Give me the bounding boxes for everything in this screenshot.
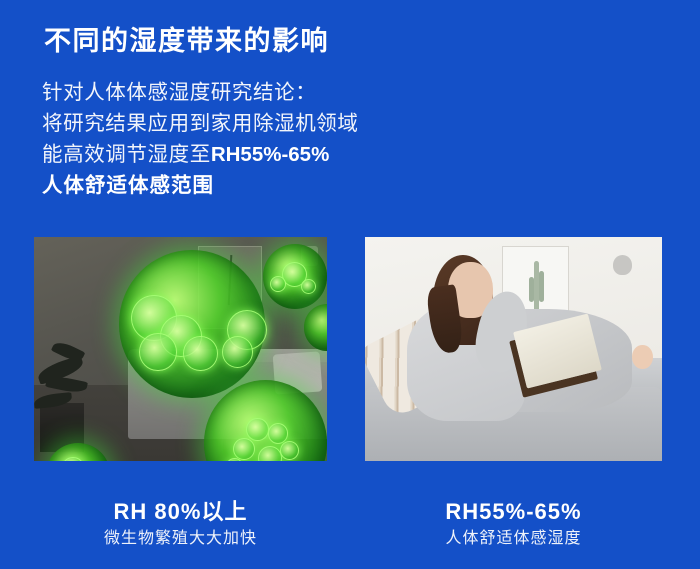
wall-speaker xyxy=(613,255,632,275)
body-copy-block: 针对人体体感湿度研究结论： 将研究结果应用到家用除湿机领域 能高效调节湿度至RH… xyxy=(42,77,482,201)
copy-line-3-prefix: 能高效调节湿度至 xyxy=(42,143,211,166)
caption-comfort-humidity: RH55%-65% 人体舒适体感湿度 xyxy=(365,498,662,552)
copy-line-1: 针对人体体感湿度研究结论： xyxy=(42,77,482,108)
copy-line-4: 人体舒适体感范围 xyxy=(42,170,482,201)
caption-subtitle: 人体舒适体感湿度 xyxy=(365,526,662,552)
photo-high-humidity xyxy=(34,237,327,461)
copy-line-3-highlight: RH55%-65% xyxy=(211,143,330,166)
microbe-sphere xyxy=(263,244,327,309)
caption-title: RH 80%以上 xyxy=(34,498,327,526)
page-title: 不同的湿度带来的影响 xyxy=(44,19,329,58)
microbe-sphere xyxy=(119,250,266,398)
caption-subtitle: 微生物繁殖大大加快 xyxy=(34,526,327,552)
caption-high-humidity: RH 80%以上 微生物繁殖大大加快 xyxy=(34,498,327,552)
dark-room-scene xyxy=(34,237,327,461)
caption-title: RH55%-65% xyxy=(365,498,662,526)
woman-foot xyxy=(632,345,653,370)
copy-line-3: 能高效调节湿度至RH55%-65% xyxy=(42,139,482,170)
light-room-scene xyxy=(365,237,662,461)
copy-line-2: 将研究结果应用到家用除湿机领域 xyxy=(42,108,482,139)
photo-comfort-humidity xyxy=(365,237,662,461)
promo-page: 不同的湿度带来的影响 针对人体体感湿度研究结论： 将研究结果应用到家用除湿机领域… xyxy=(0,0,700,569)
